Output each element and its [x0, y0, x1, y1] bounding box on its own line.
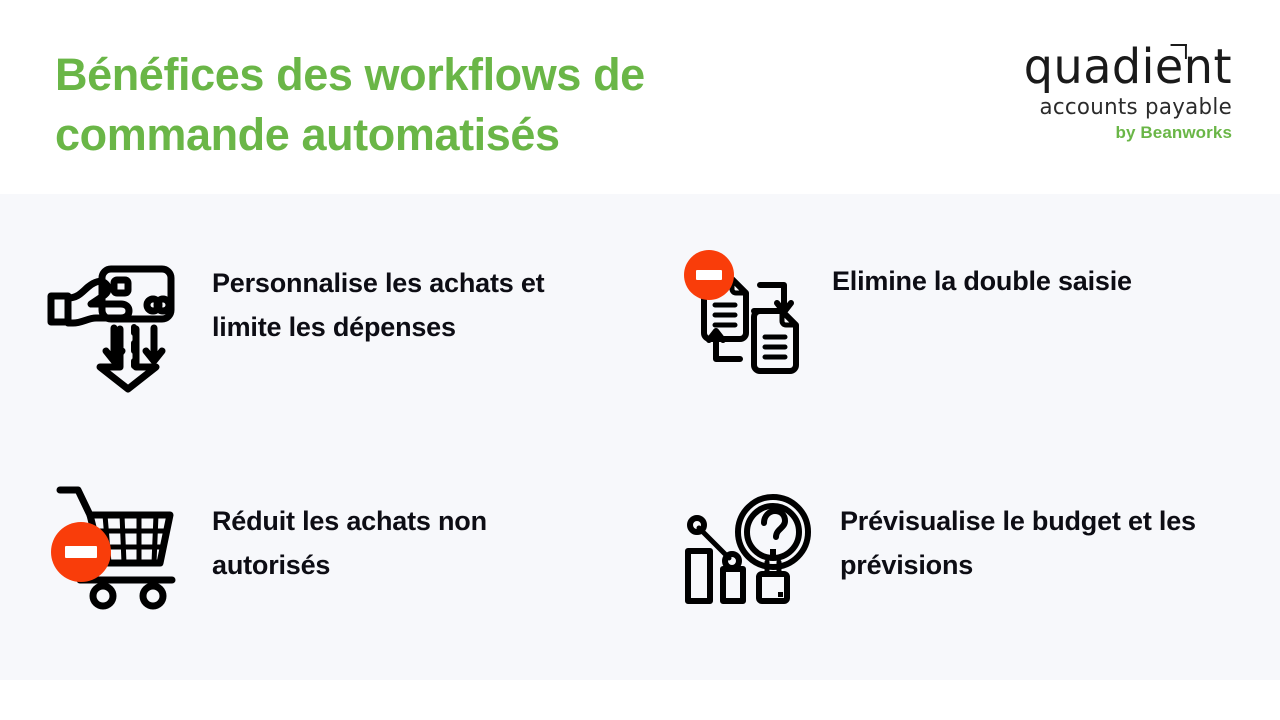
shopping-cart-icon	[48, 479, 188, 619]
logo-product-label: accounts payable	[1011, 95, 1232, 121]
benefit-label: Prévisualise le budget et les prévisions	[812, 479, 1240, 587]
minus-badge-bar	[65, 546, 97, 558]
logo-byline-label: by Beanworks	[1004, 123, 1232, 143]
hand-credit-card-down-arrows-glyph	[48, 249, 188, 389]
minus-badge-bar	[696, 270, 722, 280]
benefit-label: Elimine la double saisie	[812, 249, 1162, 303]
benefit-item: Prévisualise le budget et les prévisions	[682, 479, 1242, 609]
benefits-panel: Personnalise les achats et limite les dé…	[0, 194, 1280, 680]
slide: Bénéfices des workflows de commande auto…	[0, 0, 1280, 720]
benefit-label: Personnalise les achats et limite les dé…	[188, 249, 552, 349]
benefit-label: Réduit les achats non autorisés	[188, 479, 602, 587]
bar-chart-magnifier-question-icon	[682, 479, 812, 609]
page-title: Bénéfices des workflows de commande auto…	[55, 45, 875, 165]
hand-credit-card-down-arrows-icon	[48, 249, 188, 389]
logo-brand-text: quadient	[1013, 42, 1232, 92]
duplicate-documents-cycle-glyph	[682, 249, 812, 379]
logo-corner-mark-icon	[1171, 44, 1187, 59]
footer-strip	[0, 680, 1280, 720]
bar-chart-magnifier-question-glyph	[682, 479, 812, 609]
shopping-cart-glyph	[48, 479, 188, 619]
benefit-item: Réduit les achats non autorisés	[48, 479, 628, 619]
logo-brand-label: quadient	[1024, 39, 1232, 95]
slide-header: Bénéfices des workflows de commande auto…	[0, 0, 1280, 194]
duplicate-documents-cycle-icon	[682, 249, 812, 379]
benefit-item: Personnalise les achats et limite les dé…	[48, 249, 628, 389]
benefit-item: Elimine la double saisie	[682, 249, 1242, 379]
quadient-logo: quadient accounts payable by Beanworks	[1004, 42, 1232, 143]
